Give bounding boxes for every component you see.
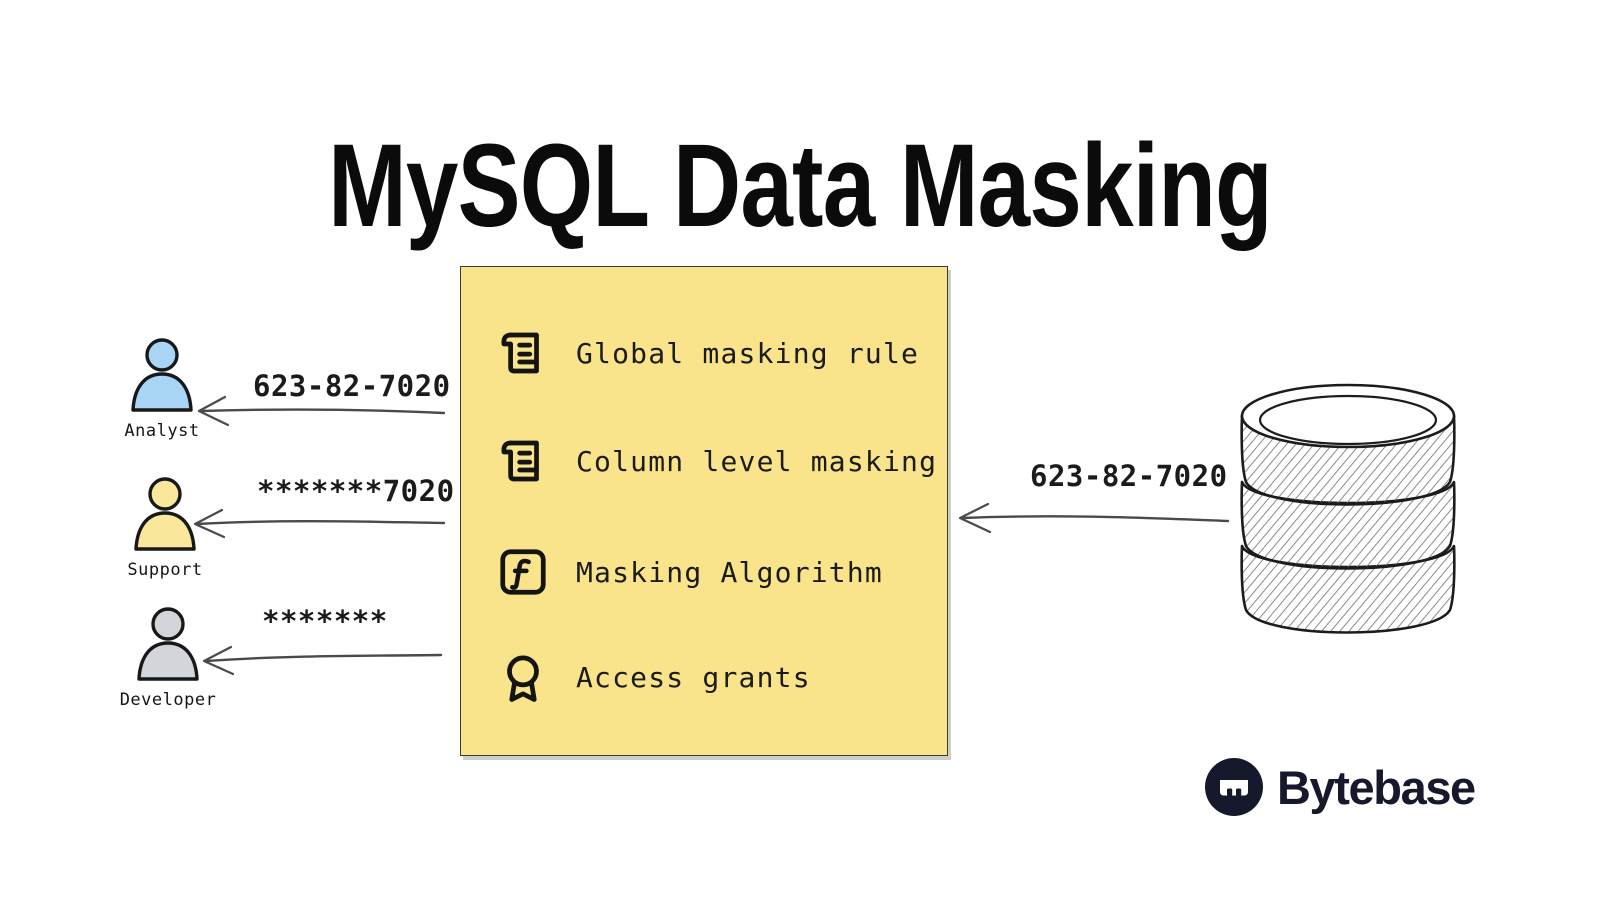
card-item-column-level-masking[interactable]: Column level masking (496, 430, 937, 492)
consumer-label: Support (100, 560, 230, 580)
card-item-access-grants[interactable]: Access grants (496, 646, 811, 708)
flow-value-support: *******7020 (257, 474, 455, 508)
person-icon (126, 336, 198, 420)
scroll-icon (496, 326, 550, 380)
function-icon (496, 545, 550, 599)
person-icon (129, 475, 201, 559)
consumer-analyst: Analyst (97, 336, 227, 441)
consumer-label: Developer (103, 690, 233, 710)
database-cylinder (1232, 378, 1464, 660)
card-item-label: Global masking rule (576, 337, 919, 370)
person-icon (132, 605, 204, 689)
card-item-label: Column level masking (576, 445, 937, 478)
card-item-masking-algorithm[interactable]: Masking Algorithm (496, 541, 883, 603)
award-icon (496, 650, 550, 704)
flow-value-developer: ******* (262, 604, 388, 638)
diagram-canvas: MySQL Data Masking (0, 0, 1600, 900)
bytebase-mark-icon (1205, 758, 1263, 816)
scroll-icon (496, 434, 550, 488)
database-icon (1232, 378, 1464, 660)
bytebase-wordmark: Bytebase (1277, 764, 1475, 811)
consumer-label: Analyst (97, 421, 227, 441)
flow-value-source: 623-82-7020 (1030, 459, 1228, 493)
bytebase-logo: Bytebase (1205, 758, 1475, 816)
card-item-label: Access grants (576, 661, 811, 694)
consumer-developer: Developer (103, 605, 233, 710)
page-title: MySQL Data Masking (160, 126, 1440, 246)
card-item-global-masking-rule[interactable]: Global masking rule (496, 322, 919, 384)
card-item-label: Masking Algorithm (576, 556, 883, 589)
consumer-support: Support (100, 475, 230, 580)
flow-value-analyst: 623-82-7020 (253, 369, 451, 403)
